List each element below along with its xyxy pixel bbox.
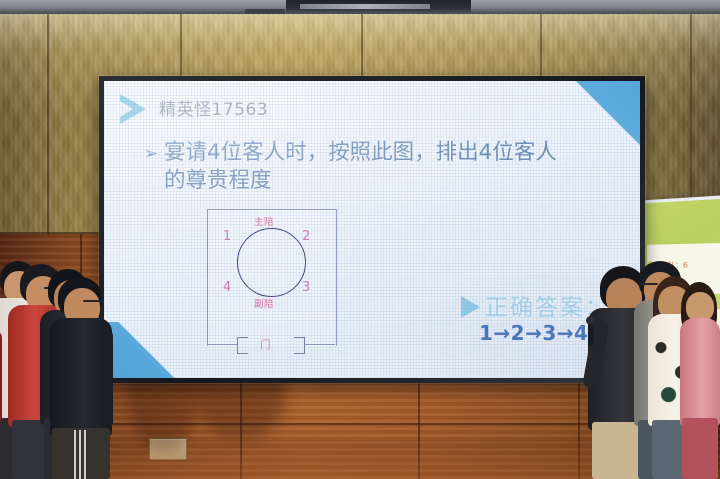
seat-number-4: 4	[223, 280, 231, 295]
door-bracket-right-icon	[294, 337, 305, 354]
ceiling-light-strip	[300, 4, 430, 9]
room-wall-bottom-right	[305, 344, 335, 345]
slide-title: 精英怪17563	[159, 95, 268, 120]
slide-canvas: 精英怪17563 ➢ 宴请4位客人时，按照此图，排出4位客人的尊贵程度 门 主陪…	[104, 81, 640, 378]
slide-corner-triangle-top-right	[574, 81, 640, 147]
microphone-icon	[588, 324, 594, 346]
slide-bullet-row: ➢ 宴请4位客人时，按照此图，排出4位客人的尊贵程度	[144, 139, 574, 196]
slide-corner-triangle-bottom-left	[104, 322, 182, 378]
diagram-bottom-label: 副陪	[254, 296, 274, 310]
slide-bullet-text: 宴请4位客人时，按照此图，排出4位客人的尊贵程度	[164, 139, 574, 196]
seat-number-3: 3	[302, 280, 310, 295]
door-bracket-left-icon	[237, 337, 248, 354]
photo-scene: 1号队：6 精英怪17563 ➢ 宴请4位客人时，按照此图，排出4位客人的尊贵程…	[0, 0, 720, 479]
wall-seam	[47, 14, 49, 240]
diagram-top-label: 主陪	[254, 214, 274, 228]
main-led-screen: 精英怪17563 ➢ 宴请4位客人时，按照此图，排出4位客人的尊贵程度 门 主陪…	[99, 76, 645, 383]
answer-sequence: 1→2→3→4	[479, 321, 588, 345]
play-triangle-notch	[120, 101, 133, 117]
seat-number-1: 1	[223, 229, 231, 244]
room-wall-bottom-left	[207, 344, 237, 345]
bullet-arrow-icon: ➢	[144, 145, 158, 162]
seat-number-2: 2	[302, 229, 310, 244]
round-table-shape	[237, 228, 306, 297]
answer-play-triangle-icon	[461, 296, 480, 318]
door-label: 门	[260, 337, 271, 352]
